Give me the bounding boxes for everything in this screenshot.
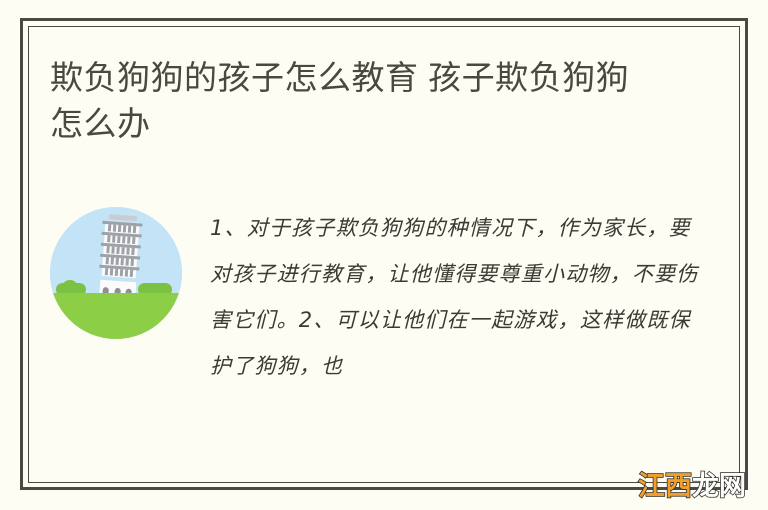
article-thumbnail[interactable] <box>50 207 182 339</box>
article-body-text: 1、对于孩子欺负狗狗的种情况下，作为家长，要对孩子进行教育，让他懂得要尊重小动物… <box>182 205 710 389</box>
article-card: 欺负狗狗的孩子怎么教育 孩子欺负狗狗怎么办 <box>0 0 768 510</box>
tower-tier <box>102 265 137 278</box>
watermark-text-primary: 江西 <box>638 471 692 501</box>
watermark-text-secondary: 龙网 <box>692 471 746 501</box>
grass-foreground <box>50 293 182 339</box>
site-watermark: 江西龙网 <box>638 473 746 500</box>
article-body-row: 1、对于孩子欺负狗狗的种情况下，作为家长，要对孩子进行教育，让他懂得要尊重小动物… <box>50 205 710 389</box>
card-content: 欺负狗狗的孩子怎么教育 孩子欺负狗狗怎么办 <box>50 55 722 465</box>
tower-cap <box>109 214 137 221</box>
article-title: 欺负狗狗的孩子怎么教育 孩子欺负狗狗怎么办 <box>50 55 650 147</box>
leaning-tower-icon <box>97 214 143 303</box>
